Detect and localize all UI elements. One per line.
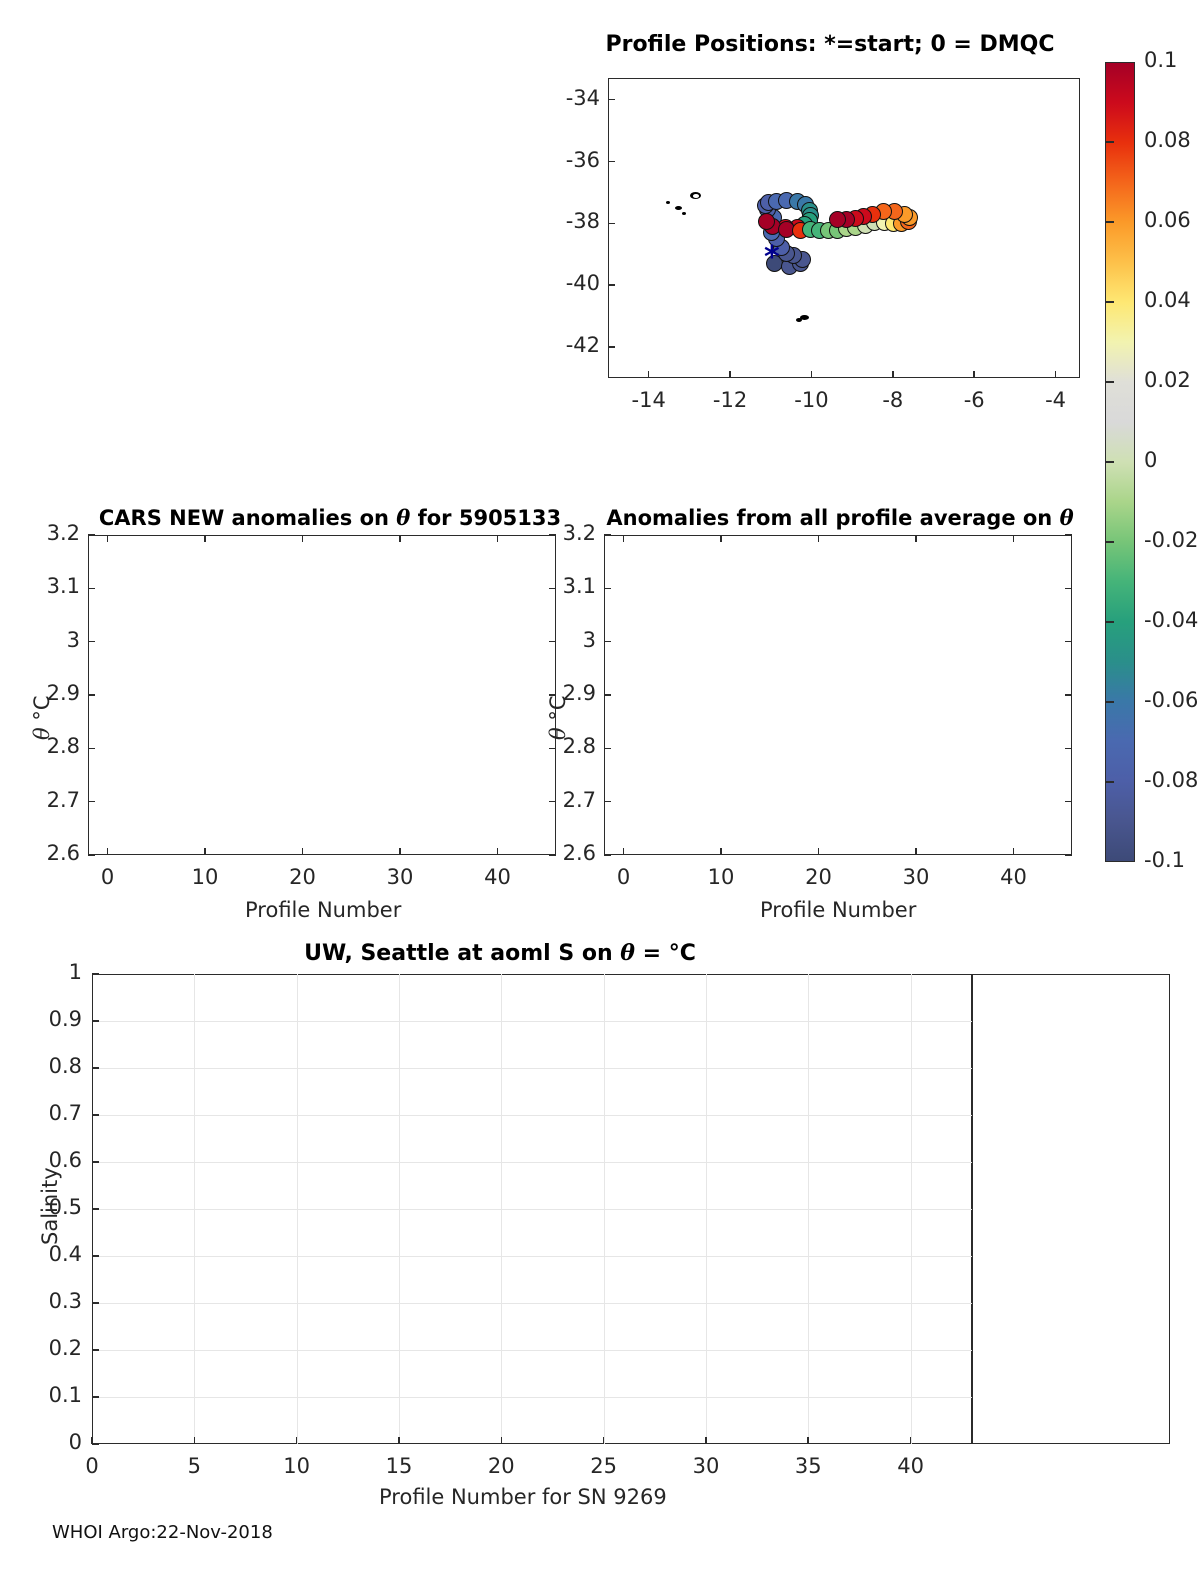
avg-y-tick-mark-right <box>1065 641 1072 643</box>
cars-xlabel: Profile Number <box>245 898 401 922</box>
colorbar-tick-label: 0.08 <box>1144 128 1191 152</box>
map-y-tick-mark <box>608 99 615 101</box>
cars-y-tick-mark <box>88 694 95 696</box>
map-y-tick-label: -42 <box>552 333 600 357</box>
salinity-hgrid <box>92 1397 972 1398</box>
avg-y-tick-mark-right <box>1065 588 1072 590</box>
salinity-x-tick-label: 5 <box>174 1454 214 1478</box>
salinity-xlabel: Profile Number for SN 9269 <box>379 1485 667 1509</box>
cars-x-tick-mark <box>497 848 499 855</box>
salinity-hgrid <box>92 1303 972 1304</box>
avg-x-tick-label: 10 <box>701 865 741 889</box>
avg-x-tick-mark-top <box>818 535 820 542</box>
cars-y-tick-label: 3.1 <box>30 574 80 598</box>
map-plot-area: * <box>608 78 1080 378</box>
cars-x-tick-label: 10 <box>185 865 225 889</box>
cars-y-tick-mark <box>88 534 95 536</box>
cars-x-tick-mark-top <box>204 535 206 542</box>
salinity-x-tick-mark <box>705 1437 707 1444</box>
map-y-tick-label: -38 <box>552 209 600 233</box>
avg-x-tick-mark-top <box>623 535 625 542</box>
theta-symbol: θ <box>1060 505 1074 530</box>
coastline-blob <box>666 201 670 204</box>
salinity-y-tick-label: 0 <box>30 1430 82 1454</box>
salinity-x-tick-mark <box>501 1437 503 1444</box>
avg-x-tick-label: 30 <box>896 865 936 889</box>
salinity-y-tick-mark <box>92 973 99 975</box>
colorbar-tick-mark <box>1105 781 1114 783</box>
colorbar-tick-label: -0.08 <box>1144 768 1198 792</box>
colorbar-tick-label: 0.06 <box>1144 208 1191 232</box>
avg-y-tick-mark <box>604 588 611 590</box>
colorbar-tick-mark <box>1105 221 1114 223</box>
avg-x-tick-mark <box>818 848 820 855</box>
avg-y-tick-mark-right <box>1065 748 1072 750</box>
cars-x-tick-label: 30 <box>380 865 420 889</box>
avg-y-tick-mark <box>604 748 611 750</box>
salinity-x-tick-label: 0 <box>72 1454 112 1478</box>
salinity-ylabel: Salinity <box>38 1167 62 1245</box>
avg-x-tick-mark <box>1013 848 1015 855</box>
sal-title-suffix: = °C <box>635 941 696 966</box>
colorbar-tick-label: -0.06 <box>1144 688 1198 712</box>
salinity-hgrid <box>92 1209 972 1210</box>
avg-y-tick-mark <box>604 641 611 643</box>
salinity-y-tick-label: 1 <box>30 960 82 984</box>
map-x-tick-label: -8 <box>875 388 911 412</box>
cars-y-tick-mark <box>88 588 95 590</box>
avg-y-tick-mark-right <box>1065 694 1072 696</box>
colorbar-tick-mark <box>1105 301 1114 303</box>
salinity-y-tick-mark <box>92 1161 99 1163</box>
cars-y-tick-mark <box>88 748 95 750</box>
salinity-y-tick-mark <box>92 1208 99 1210</box>
avg-y-tick-label: 2.6 <box>546 841 596 865</box>
salinity-y-tick-mark <box>92 1396 99 1398</box>
colorbar-tick-label: 0 <box>1144 448 1157 472</box>
salinity-y-tick-label: 0.2 <box>30 1336 82 1360</box>
avg-xlabel: Profile Number <box>760 898 916 922</box>
avg-x-tick-mark <box>720 848 722 855</box>
salinity-hgrid <box>92 1350 972 1351</box>
cars-y-tick-label: 2.6 <box>30 841 80 865</box>
salinity-x-tick-mark <box>807 1437 809 1444</box>
colorbar-tick-mark <box>1105 141 1114 143</box>
theta-symbol: θ <box>30 727 54 740</box>
avg-x-tick-mark-top <box>1013 535 1015 542</box>
coastline-blob <box>693 194 699 198</box>
map-x-tick-mark <box>811 371 813 378</box>
avg-y-tick-mark-right <box>1065 534 1072 536</box>
salinity-x-tick-mark <box>910 1437 912 1444</box>
cars-x-tick-label: 20 <box>283 865 323 889</box>
avg-y-tick-label: 2.7 <box>546 788 596 812</box>
salinity-title: UW, Seattle at aoml S on θ = °C <box>180 940 820 966</box>
salinity-x-tick-label: 40 <box>891 1454 931 1478</box>
cars-x-tick-mark <box>399 848 401 855</box>
map-y-tick-mark <box>608 223 615 225</box>
map-x-tick-mark <box>892 371 894 378</box>
salinity-legend-box[interactable] <box>972 974 1170 1444</box>
avg-y-tick-mark-right <box>1065 854 1072 856</box>
cars-ylabel: θ °C <box>30 696 54 741</box>
colorbar-tick-label: 0.04 <box>1144 288 1191 312</box>
salinity-y-tick-mark <box>92 1443 99 1445</box>
coastline-blob <box>796 318 802 322</box>
figure-footer: WHOI Argo:22-Nov-2018 <box>52 1522 273 1543</box>
map-x-tick-label: -12 <box>712 388 748 412</box>
salinity-y-tick-mark <box>92 1114 99 1116</box>
cars-y-tick-mark <box>88 854 95 856</box>
avg-y-tick-label: 3.2 <box>546 521 596 545</box>
theta-symbol: θ <box>396 505 410 530</box>
cars-axes <box>88 535 556 855</box>
map-x-tick-mark <box>1055 371 1057 378</box>
salinity-hgrid <box>92 1068 972 1069</box>
cars-title-suffix: for 5905133 <box>410 506 561 530</box>
salinity-y-tick-label: 0.3 <box>30 1289 82 1313</box>
start-marker: * <box>764 243 780 273</box>
cars-x-tick-label: 40 <box>478 865 518 889</box>
salinity-y-tick-label: 0.4 <box>30 1242 82 1266</box>
colorbar-tick-label: 0.1 <box>1144 48 1177 72</box>
colorbar-tick-label: -0.02 <box>1144 528 1198 552</box>
salinity-x-tick-label: 35 <box>788 1454 828 1478</box>
avg-y-tick-label: 3.1 <box>546 574 596 598</box>
salinity-hgrid <box>92 1256 972 1257</box>
salinity-y-tick-label: 0.1 <box>30 1383 82 1407</box>
cars-ylabel-text: °C <box>30 696 54 728</box>
avg-y-tick-mark <box>604 534 611 536</box>
cars-x-tick-mark <box>302 848 304 855</box>
colorbar-tick-mark <box>1105 701 1114 703</box>
theta-symbol: θ <box>620 940 635 966</box>
salinity-x-tick-mark <box>603 1437 605 1444</box>
colorbar-tick-label: -0.1 <box>1144 848 1185 872</box>
coastline-blob <box>675 206 682 210</box>
cars-x-tick-mark-top <box>107 535 109 542</box>
salinity-x-tick-label: 25 <box>584 1454 624 1478</box>
profile-marker[interactable] <box>758 213 775 230</box>
map-title: Profile Positions: *=start; 0 = DMQC <box>560 32 1100 57</box>
map-y-tick-label: -40 <box>552 271 600 295</box>
map-x-tick-label: -14 <box>631 388 667 412</box>
cars-y-tick-label: 2.7 <box>30 788 80 812</box>
cars-y-tick-label: 3 <box>30 628 80 652</box>
salinity-x-tick-mark <box>194 1437 196 1444</box>
salinity-x-tick-mark <box>398 1437 400 1444</box>
cars-x-tick-mark-top <box>302 535 304 542</box>
salinity-hgrid <box>92 1162 972 1163</box>
avg-x-tick-mark <box>915 848 917 855</box>
salinity-y-tick-mark <box>92 1302 99 1304</box>
salinity-y-tick-mark <box>92 1020 99 1022</box>
salinity-hgrid <box>92 1115 972 1116</box>
salinity-x-tick-label: 15 <box>379 1454 419 1478</box>
cars-x-tick-mark <box>107 848 109 855</box>
cars-x-tick-mark <box>204 848 206 855</box>
avg-y-tick-mark <box>604 854 611 856</box>
cars-y-tick-mark <box>88 641 95 643</box>
salinity-y-tick-mark <box>92 1067 99 1069</box>
salinity-x-tick-mark <box>296 1437 298 1444</box>
map-x-tick-mark <box>973 371 975 378</box>
map-x-tick-mark <box>648 371 650 378</box>
sal-title-prefix: UW, Seattle at aoml S on <box>304 941 620 966</box>
cars-x-tick-label: 0 <box>88 865 128 889</box>
avg-axes <box>604 535 1072 855</box>
avg-y-tick-mark <box>604 801 611 803</box>
salinity-x-tick-label: 30 <box>686 1454 726 1478</box>
cars-x-tick-mark-top <box>497 535 499 542</box>
avg-y-tick-mark <box>604 694 611 696</box>
salinity-y-tick-label: 0.9 <box>30 1007 82 1031</box>
salinity-x-tick-label: 20 <box>481 1454 521 1478</box>
map-y-tick-label: -34 <box>552 86 600 110</box>
colorbar-tick-label: -0.04 <box>1144 608 1198 632</box>
cars-y-tick-label: 3.2 <box>30 521 80 545</box>
salinity-y-tick-label: 0.8 <box>30 1054 82 1078</box>
cars-title-prefix: CARS NEW anomalies on <box>99 506 396 530</box>
avg-ylabel-text: °C <box>546 696 570 728</box>
map-y-tick-label: -36 <box>552 148 600 172</box>
cars-anomalies-title: CARS NEW anomalies on θ for 5905133 <box>60 505 600 530</box>
cars-y-tick-mark <box>88 801 95 803</box>
map-y-tick-mark <box>608 346 615 348</box>
theta-symbol: θ <box>546 727 570 740</box>
avg-y-tick-label: 3 <box>546 628 596 652</box>
coastline-blob <box>682 212 686 215</box>
avg-x-tick-label: 20 <box>799 865 839 889</box>
avg-x-tick-label: 0 <box>604 865 644 889</box>
avg-x-tick-label: 40 <box>994 865 1034 889</box>
avg-ylabel: θ °C <box>546 696 570 741</box>
avg-title-prefix: Anomalies from all profile average on <box>606 506 1059 530</box>
cars-x-tick-mark-top <box>399 535 401 542</box>
avg-x-tick-mark-top <box>720 535 722 542</box>
avg-anomalies-title: Anomalies from all profile average on θ <box>580 505 1100 530</box>
map-y-tick-mark <box>608 284 615 286</box>
salinity-hgrid <box>92 1021 972 1022</box>
salinity-y-tick-mark <box>92 1349 99 1351</box>
salinity-y-tick-mark <box>92 1255 99 1257</box>
profile-marker[interactable] <box>829 211 846 228</box>
salinity-x-tick-label: 10 <box>277 1454 317 1478</box>
map-y-tick-mark <box>608 161 615 163</box>
colorbar-tick-label: 0.02 <box>1144 368 1191 392</box>
map-x-tick-label: -10 <box>793 388 829 412</box>
colorbar-tick-mark <box>1105 541 1114 543</box>
map-x-tick-label: -6 <box>956 388 992 412</box>
map-x-tick-label: -4 <box>1038 388 1074 412</box>
colorbar-tick-mark <box>1105 621 1114 623</box>
avg-x-tick-mark <box>623 848 625 855</box>
colorbar-tick-mark <box>1105 461 1114 463</box>
map-x-tick-mark <box>729 371 731 378</box>
salinity-y-tick-label: 0.7 <box>30 1101 82 1125</box>
avg-x-tick-mark-top <box>915 535 917 542</box>
avg-y-tick-mark-right <box>1065 801 1072 803</box>
colorbar-tick-mark <box>1105 381 1114 383</box>
